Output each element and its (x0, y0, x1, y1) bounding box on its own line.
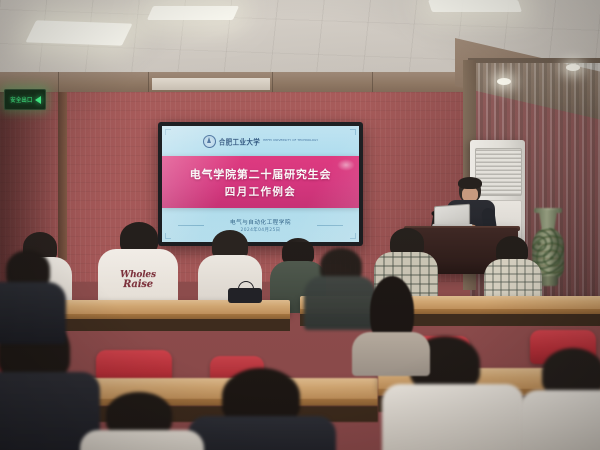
audience-person-foreground (528, 348, 600, 450)
person-torso (188, 416, 336, 450)
slide-title-banner: 电气学院第二十届研究生会 四月工作例会 (162, 156, 359, 208)
tshirt-text-line2: Raise (112, 280, 164, 290)
person-torso (0, 282, 66, 344)
slide-title-line2: 四月工作例会 (225, 184, 296, 199)
emergency-exit-sign: 安全出口 (4, 89, 46, 110)
downlight-icon (566, 64, 580, 71)
slide-footer-org: 电气与自动化工程学院 (230, 218, 291, 226)
university-name-en: HEFEI UNIVERSITY OF TECHNOLOGY (263, 139, 318, 143)
ceiling-panel-light (428, 0, 522, 12)
tshirt-graphic: Wholes Raise (112, 271, 164, 290)
university-name-cn: 合肥工业大学 (219, 136, 260, 147)
curtain-rail (468, 58, 600, 63)
slide-title-line1: 电气学院第二十届研究生会 (190, 166, 332, 182)
ceiling-panel-light (147, 6, 239, 20)
backpack-handle (238, 281, 254, 290)
presenter-hair (458, 177, 482, 189)
slide-header: 合肥工业大学 HEFEI UNIVERSITY OF TECHNOLOGY (162, 126, 359, 156)
audience-person (0, 250, 60, 334)
slide-footer: 电气与自动化工程学院 2024年04月25日 (162, 208, 359, 242)
person-torso (80, 430, 204, 450)
audience-person (356, 276, 426, 364)
exit-arrow-icon (35, 96, 41, 104)
exit-sign-label: 安全出口 (10, 95, 32, 104)
footer-rule-right (317, 225, 343, 226)
person-torso (520, 390, 600, 450)
backpack (228, 288, 262, 303)
audience-person-foreground (196, 368, 326, 450)
downlight-icon (497, 78, 511, 85)
banner-glare (337, 159, 355, 171)
footer-rule-left (178, 225, 204, 226)
person-torso (352, 332, 430, 376)
valance-light (152, 78, 270, 90)
person-hair (542, 348, 600, 396)
person-torso (382, 384, 524, 450)
lecture-room-photo: 安全出口 合肥工业大学 HEFEI UNIVERSITY OF TECHNOLO… (0, 0, 600, 450)
projection-screen: 合肥工业大学 HEFEI UNIVERSITY OF TECHNOLOGY 电气… (158, 122, 363, 246)
ceiling-panel-light (25, 20, 132, 45)
vase-neck (537, 210, 559, 230)
university-logo-icon (203, 135, 216, 148)
slide-surface: 合肥工业大学 HEFEI UNIVERSITY OF TECHNOLOGY 电气… (162, 126, 359, 242)
audience-person-foreground (86, 392, 196, 450)
